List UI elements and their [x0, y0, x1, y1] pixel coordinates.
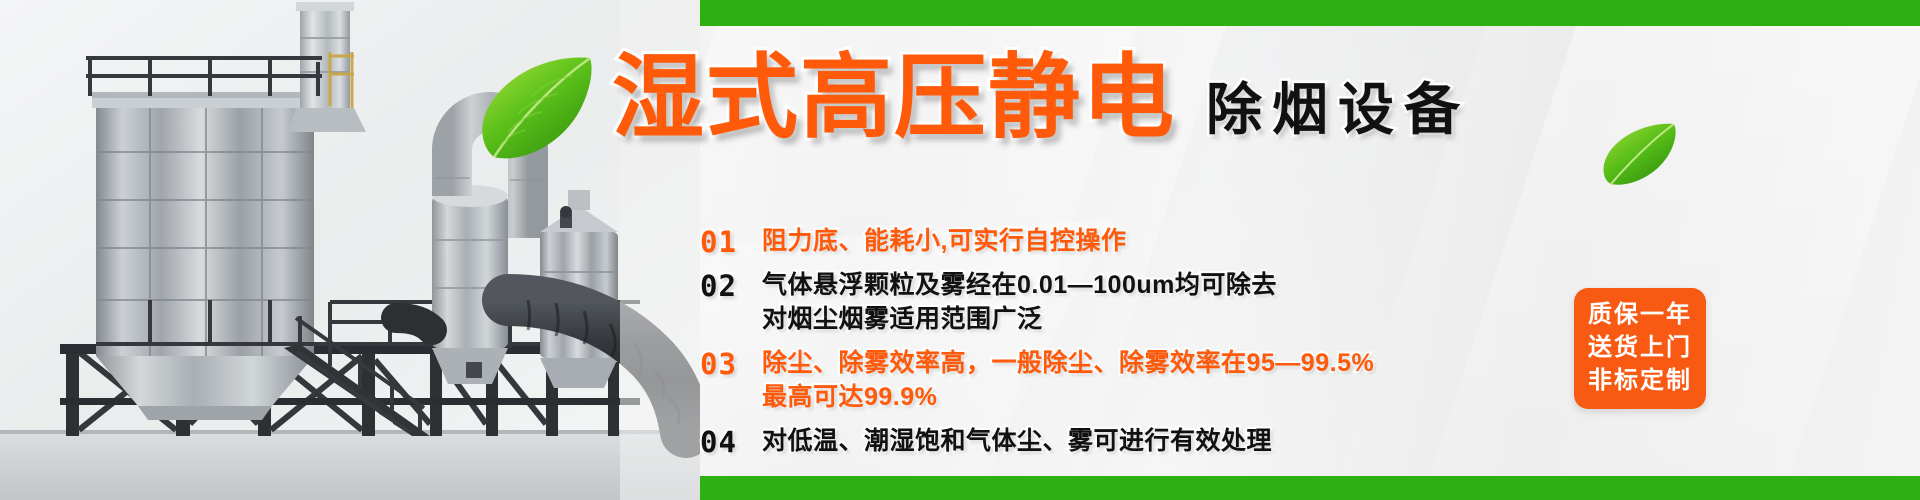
promo-banner: 湿式高压静电 除烟设备 01 阻力底、能耗小,可实行自控操作 02 气体悬浮颗粒… — [0, 0, 1920, 500]
list-item: 03 除尘、除雾效率高，一般除尘、除雾效率在95—99.5% 最高可达99.9% — [700, 346, 1580, 414]
feature-number: 02 — [700, 268, 754, 304]
green-top-bar — [620, 0, 1920, 26]
feature-line-1: 气体悬浮颗粒及雾经在0.01—100um均可除去 — [762, 271, 1277, 299]
feature-number: 03 — [700, 346, 754, 382]
feature-line-2: 最高可达99.9% — [762, 380, 1374, 414]
feature-text: 气体悬浮颗粒及雾经在0.01—100um均可除去 对烟尘烟雾适用范围广泛 — [762, 268, 1277, 336]
badge-line-delivery: 送货上门 — [1574, 331, 1706, 364]
feature-line-1: 阻力底、能耗小,可实行自控操作 — [762, 227, 1126, 255]
feature-number: 04 — [700, 424, 754, 460]
feature-number: 01 — [700, 224, 754, 260]
feature-line-1: 除尘、除雾效率高，一般除尘、除雾效率在95—99.5% — [762, 349, 1374, 377]
list-item: 04 对低温、潮湿饱和气体尘、雾可进行有效处理 — [700, 424, 1580, 460]
status-badge: 质保一年 送货上门 非标定制 — [1574, 288, 1706, 409]
list-item: 02 气体悬浮颗粒及雾经在0.01—100um均可除去 对烟尘烟雾适用范围广泛 — [700, 268, 1580, 336]
feature-list: 01 阻力底、能耗小,可实行自控操作 02 气体悬浮颗粒及雾经在0.01—100… — [700, 224, 1580, 464]
leaf-icon — [1600, 120, 1678, 186]
feature-text: 阻力底、能耗小,可实行自控操作 — [762, 224, 1126, 258]
badge-line-custom: 非标定制 — [1574, 364, 1706, 397]
page-title: 湿式高压静电 — [612, 52, 1176, 144]
green-bottom-bar — [620, 476, 1920, 500]
feature-text: 除尘、除雾效率高，一般除尘、除雾效率在95—99.5% 最高可达99.9% — [762, 346, 1374, 414]
feature-line-1: 对低温、潮湿饱和气体尘、雾可进行有效处理 — [762, 427, 1272, 455]
feature-line-2: 对烟尘烟雾适用范围广泛 — [762, 302, 1277, 336]
industrial-scrubber-photo — [0, 0, 700, 500]
badge-line-warranty: 质保一年 — [1574, 298, 1706, 331]
list-item: 01 阻力底、能耗小,可实行自控操作 — [700, 224, 1580, 260]
page-subtitle: 除烟设备 — [1206, 82, 1470, 138]
headline: 湿式高压静电 除烟设备 — [612, 52, 1470, 144]
feature-text: 对低温、潮湿饱和气体尘、雾可进行有效处理 — [762, 424, 1272, 458]
